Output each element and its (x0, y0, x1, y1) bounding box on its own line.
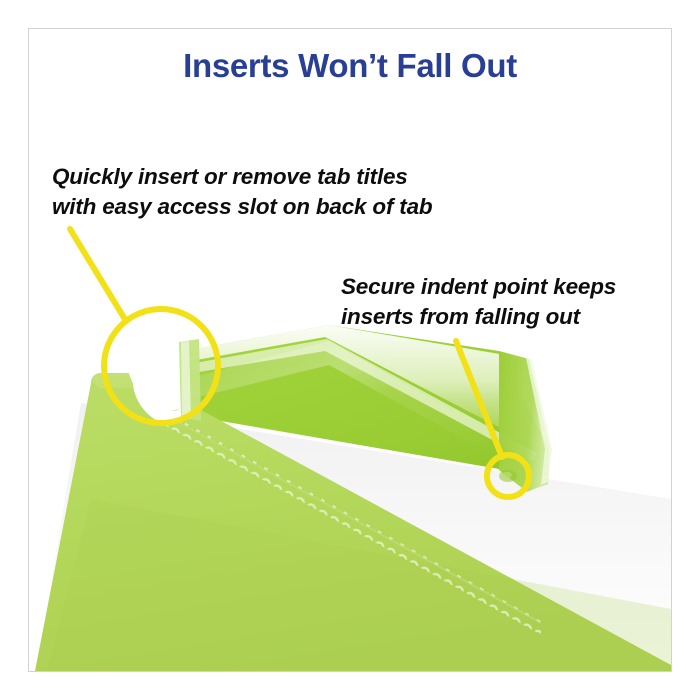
product-infographic: Inserts Won’t Fall Out Quickly insert or… (0, 0, 700, 700)
caption-line: Quickly insert or remove tab titles (52, 162, 432, 192)
secure-indent-point (499, 470, 517, 482)
callout-caption-slot: Quickly insert or remove tab titles with… (52, 162, 432, 222)
caption-line: Secure indent point keeps (341, 272, 616, 302)
caption-line: inserts from falling out (341, 302, 616, 332)
product-photo (29, 29, 671, 671)
callout-caption-indent: Secure indent point keeps inserts from f… (341, 272, 616, 332)
caption-line: with easy access slot on back of tab (52, 192, 432, 222)
product-illustration (29, 29, 671, 671)
page-title: Inserts Won’t Fall Out (0, 48, 700, 84)
